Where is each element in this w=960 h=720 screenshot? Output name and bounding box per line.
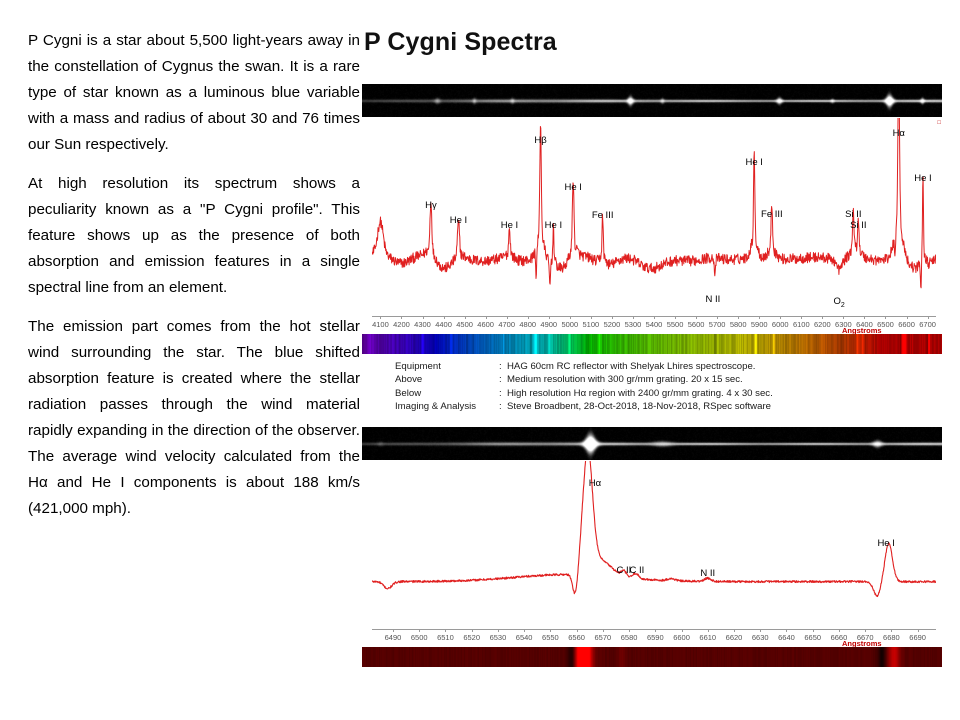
- peak-label-h: Hγ: [425, 201, 437, 211]
- axis-tick: [675, 316, 676, 319]
- peak-label-hei: He I: [545, 221, 562, 231]
- peak-label-hei: He I: [501, 221, 518, 231]
- axis-tick: [734, 629, 735, 632]
- axis-tick: [907, 316, 908, 319]
- axis-tick-label: 5100: [583, 320, 600, 329]
- axis-tick: [633, 316, 634, 319]
- axis-tick-label: 6580: [621, 633, 638, 642]
- slide-root: P Cygni is a star about 5,500 light-year…: [0, 0, 960, 720]
- axis-tick-label: 6650: [804, 633, 821, 642]
- axis-tick: [813, 629, 814, 632]
- axis-tick: [839, 629, 840, 632]
- axis-tick: [780, 316, 781, 319]
- axis-tick-label: 4200: [393, 320, 410, 329]
- axis-tick: [507, 316, 508, 319]
- axis-tick: [528, 316, 529, 319]
- page-title: P Cygni Spectra: [364, 28, 557, 57]
- axis-tick-label: 6100: [793, 320, 810, 329]
- axis-tick: [465, 316, 466, 319]
- axis-tick: [885, 316, 886, 319]
- peak-label-h: Hβ: [534, 136, 546, 146]
- axis-tick: [549, 316, 550, 319]
- axis-tick-label: 6530: [490, 633, 507, 642]
- peak-label-feiii: Fe III: [592, 211, 614, 221]
- caption-key: Above: [395, 373, 499, 386]
- axis-tick-label: 6610: [699, 633, 716, 642]
- axis-tick: [801, 316, 802, 319]
- axis-tick-label: 5400: [646, 320, 663, 329]
- axis-tick: [486, 316, 487, 319]
- caption-value: High resolution Hα region with 2400 gr/m…: [507, 387, 773, 400]
- medium-resolution-strip: [362, 84, 942, 117]
- peak-label-siii: Si II: [845, 210, 861, 220]
- halpha-colour-strip: [362, 647, 942, 667]
- axis-tick: [498, 629, 499, 632]
- axis-tick-label: 5800: [730, 320, 747, 329]
- axis-tick: [591, 316, 592, 319]
- peak-label-h: Hα: [893, 129, 905, 139]
- axis-tick-label: 6200: [814, 320, 831, 329]
- axis-tick-label: 6630: [752, 633, 769, 642]
- axis-tick: [550, 629, 551, 632]
- axis-tick-label: 6000: [772, 320, 789, 329]
- axis-tick: [708, 629, 709, 632]
- peak-label-hei: He I: [450, 216, 467, 226]
- axis-tick: [918, 629, 919, 632]
- medium-resolution-trace: [372, 118, 936, 294]
- axis-tick: [738, 316, 739, 319]
- caption-colon: :: [499, 360, 507, 373]
- high-resolution-plot-area: HαC IIC IIN IIHe I: [372, 461, 936, 607]
- axis-tick-label: 4400: [435, 320, 452, 329]
- caption-row: Below : High resolution Hα region with 2…: [395, 387, 773, 400]
- axis-tick: [401, 316, 402, 319]
- caption-colon: :: [499, 373, 507, 386]
- article-paragraph-3: The emission part comes from the hot ste…: [28, 314, 360, 522]
- peak-label-o2: O2: [834, 297, 845, 309]
- axis-tick: [380, 316, 381, 319]
- axis-tick-label: 6550: [542, 633, 559, 642]
- axis-tick: [891, 629, 892, 632]
- axis-tick: [629, 629, 630, 632]
- axis-tick-label: 6690: [909, 633, 926, 642]
- caption-row: Above : Medium resolution with 300 gr/mm…: [395, 373, 773, 386]
- axis-tick: [577, 629, 578, 632]
- axis-tick-label: 6540: [516, 633, 533, 642]
- axis-tick-label: 5500: [667, 320, 684, 329]
- axis-tick-label: 6680: [883, 633, 900, 642]
- high-resolution-trace: [372, 461, 936, 607]
- axis-tick-label: 4900: [540, 320, 557, 329]
- caption-colon: :: [499, 387, 507, 400]
- axis-tick-label: 5700: [709, 320, 726, 329]
- axis-tick: [444, 316, 445, 319]
- caption-value: Steve Broadbent, 28-Oct-2018, 18-Nov-201…: [507, 400, 773, 413]
- caption-row: Imaging & Analysis : Steve Broadbent, 28…: [395, 400, 773, 413]
- caption-table: Equipment : HAG 60cm RC reflector with S…: [395, 360, 773, 414]
- axis-tick-label: 5300: [625, 320, 642, 329]
- axis-tick-label: 4500: [456, 320, 473, 329]
- plot-corner-mark: □: [937, 120, 941, 126]
- caption-key: Below: [395, 387, 499, 400]
- axis-tick: [570, 316, 571, 319]
- caption-row: Equipment : HAG 60cm RC reflector with S…: [395, 360, 773, 373]
- axis-tick: [612, 316, 613, 319]
- axis-tick-label: 4700: [498, 320, 515, 329]
- axis-tick: [760, 629, 761, 632]
- axis-tick: [419, 629, 420, 632]
- axis-tick-label: 5900: [751, 320, 768, 329]
- peak-label-nii: N II: [706, 295, 721, 305]
- spectra-panel: P Cygni Spectra HγHe IHe IHβHe IHe IFe I…: [362, 0, 942, 720]
- peak-label-nii: N II: [700, 569, 715, 579]
- axis-tick: [682, 629, 683, 632]
- axis-tick: [759, 316, 760, 319]
- axis-tick-label: 4800: [519, 320, 536, 329]
- axis-tick-label: 5600: [688, 320, 705, 329]
- article-paragraph-1: P Cygni is a star about 5,500 light-year…: [28, 28, 360, 158]
- axis-tick: [654, 316, 655, 319]
- axis-tick: [393, 629, 394, 632]
- axis-line: [372, 629, 936, 630]
- axis-tick-label: 6600: [673, 633, 690, 642]
- article-paragraph-2: At high resolution its spectrum shows a …: [28, 171, 360, 301]
- axis-tick-label: 6560: [568, 633, 585, 642]
- peak-label-siii: Si II: [850, 221, 866, 231]
- peak-label-cii: C II: [630, 566, 645, 576]
- axis-tick: [423, 316, 424, 319]
- axis-tick: [864, 316, 865, 319]
- high-resolution-strip: [362, 427, 942, 460]
- axis-tick-label: 6620: [726, 633, 743, 642]
- axis-tick-label: 6520: [463, 633, 480, 642]
- medium-resolution-plot-area: HγHe IHe IHβHe IHe IFe IIIN IIHe IFe III…: [372, 118, 936, 294]
- caption-block: Equipment : HAG 60cm RC reflector with S…: [395, 360, 935, 414]
- axis-tick: [445, 629, 446, 632]
- axis-tick-label: 6510: [437, 633, 454, 642]
- axis-tick-label: 6590: [647, 633, 664, 642]
- axis-tick: [655, 629, 656, 632]
- peak-label-h: Hα: [589, 479, 601, 489]
- axis-tick-label: 6490: [385, 633, 402, 642]
- axis-tick-label: 4100: [372, 320, 389, 329]
- axis-tick: [603, 629, 604, 632]
- caption-value: HAG 60cm RC reflector with Shelyak Lhire…: [507, 360, 773, 373]
- axis-tick-label: 5200: [604, 320, 621, 329]
- peak-label-hei: He I: [745, 158, 762, 168]
- caption-key: Imaging & Analysis: [395, 400, 499, 413]
- peak-label-hei: He I: [877, 539, 894, 549]
- axis-tick: [472, 629, 473, 632]
- axis-tick-label: 5000: [561, 320, 578, 329]
- axis-tick: [822, 316, 823, 319]
- visible-colour-strip: [362, 334, 942, 354]
- axis-tick: [928, 316, 929, 319]
- high-resolution-chart: HαC IIC IIN IIHe I: [362, 461, 942, 627]
- axis-tick: [717, 316, 718, 319]
- axis-tick: [696, 316, 697, 319]
- axis-tick-label: 6570: [595, 633, 612, 642]
- axis-tick-label: 6500: [411, 633, 428, 642]
- axis-tick-label: 6640: [778, 633, 795, 642]
- peak-label-feiii: Fe III: [761, 210, 783, 220]
- axis-tick: [786, 629, 787, 632]
- caption-colon: :: [499, 400, 507, 413]
- peak-label-hei: He I: [914, 174, 931, 184]
- caption-value: Medium resolution with 300 gr/mm grating…: [507, 373, 773, 386]
- peak-label-hei: He I: [564, 183, 581, 193]
- medium-resolution-chart: HγHe IHe IHβHe IHe IFe IIIN IIHe IFe III…: [362, 118, 942, 314]
- axis-tick-label: 6600: [898, 320, 915, 329]
- axis-tick-label: 6700: [919, 320, 936, 329]
- axis-tick-label: 4600: [477, 320, 494, 329]
- axis-tick-label: 4300: [414, 320, 431, 329]
- article-text-column: P Cygni is a star about 5,500 light-year…: [28, 28, 360, 522]
- caption-key: Equipment: [395, 360, 499, 373]
- axis-tick: [865, 629, 866, 632]
- axis-tick: [524, 629, 525, 632]
- axis-tick: [843, 316, 844, 319]
